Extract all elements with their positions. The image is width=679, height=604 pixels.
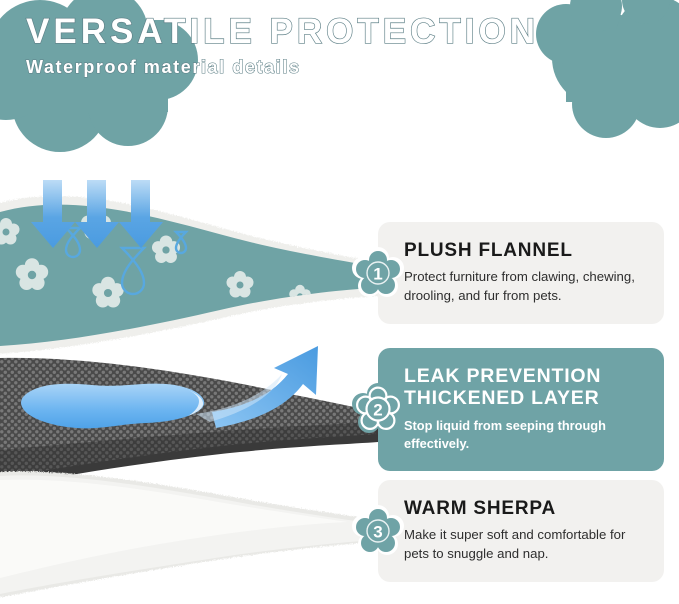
layers-svg bbox=[0, 150, 400, 604]
page-subtitle: Waterproof material details bbox=[26, 58, 586, 76]
badge-label: 1 bbox=[373, 264, 382, 283]
card-title: PLUSH FLANNEL bbox=[404, 240, 644, 261]
fabric-layers-illustration bbox=[0, 150, 400, 604]
card-title: LEAK PREVENTION THICKENED LAYER bbox=[404, 366, 644, 410]
feature-card-warm-sherpa[interactable]: 3 WARM SHERPA Make it super soft and com… bbox=[378, 480, 664, 582]
infographic-canvas: VERSATILE PROTECTION Waterproof material… bbox=[0, 0, 679, 604]
page-title: VERSATILE PROTECTION bbox=[26, 14, 586, 49]
card-description: Protect furniture from clawing, chewing,… bbox=[404, 268, 644, 305]
header-text-group: VERSATILE PROTECTION Waterproof material… bbox=[26, 14, 586, 76]
card-description: Stop liquid from seeping through effecti… bbox=[404, 417, 644, 453]
header-banner: VERSATILE PROTECTION Waterproof material… bbox=[0, 0, 679, 150]
leak-prevention-layer bbox=[0, 346, 378, 488]
feature-card-leak-prevention[interactable]: 2 LEAK PREVENTION THICKENED LAYER Stop l… bbox=[378, 348, 664, 471]
card-title: WARM SHERPA bbox=[404, 498, 644, 519]
badge-label: 2 bbox=[373, 401, 382, 420]
warm-sherpa-layer bbox=[0, 471, 378, 598]
plush-flannel-layer bbox=[0, 180, 378, 354]
card-description: Make it super soft and comfortable for p… bbox=[404, 526, 644, 563]
water-droplets-falling bbox=[31, 180, 163, 248]
badge-number-1: 1 bbox=[352, 247, 404, 299]
badge-number-3: 3 bbox=[352, 505, 404, 557]
feature-card-plush-flannel[interactable]: 1 PLUSH FLANNEL Protect furniture from c… bbox=[378, 222, 664, 324]
badge-number-2: 2 bbox=[352, 383, 404, 435]
badge-label: 3 bbox=[373, 522, 382, 541]
